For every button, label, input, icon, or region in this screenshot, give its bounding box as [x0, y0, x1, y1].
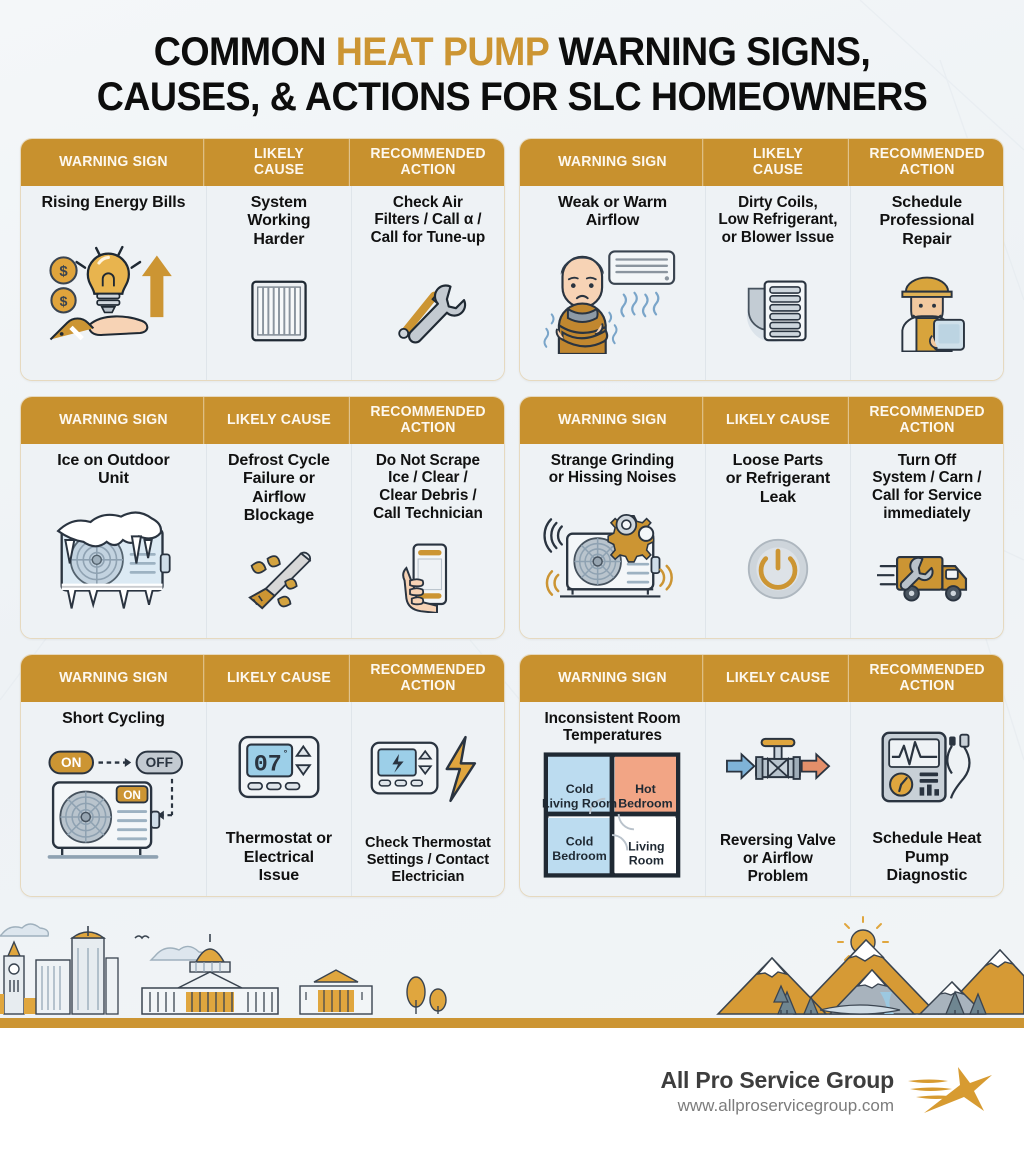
dirty-coils-icon: [712, 247, 844, 370]
card-body: Weak or Warm Airflow: [520, 186, 1003, 380]
header-recommended-action: RECOMMENDED ACTION: [853, 655, 1001, 702]
on-off-cycling-unit-icon: ON OFF: [27, 728, 200, 885]
shovel-leaves-icon: [213, 526, 345, 628]
badge-unit-on-label: ON: [124, 788, 142, 802]
service-truck-icon: [857, 523, 997, 628]
hand-bulb-money-icon: $ $: [27, 212, 200, 369]
header-recommended-action: RECOMMENDED ACTION: [354, 655, 502, 702]
warning-cell: Rising Energy Bills $ $: [21, 186, 207, 380]
brand-name: All Pro Service Group: [660, 1067, 894, 1094]
action-text: Schedule Professional Repair: [879, 194, 974, 250]
scenery-illustration: [0, 914, 1024, 1022]
card-header: WARNING SIGN LIKELY CAUSE RECOMMENDED AC…: [520, 139, 1003, 186]
svg-text:°: °: [284, 748, 288, 758]
header-likely-cause: LIKELY CAUSE: [708, 655, 849, 702]
warning-text: Strange Grinding or Hissing Noises: [549, 452, 677, 487]
cause-text: Loose Parts or Refrigerant Leak: [726, 452, 830, 508]
badge-on-label: ON: [62, 755, 82, 770]
salt-lake-city-skyline: [0, 924, 446, 1014]
card-ice-on-outdoor-unit[interactable]: WARNING SIGN LIKELY CAUSE RECOMMENDED AC…: [20, 396, 505, 639]
warning-text: Rising Energy Bills: [42, 194, 186, 213]
action-cell: Turn Off System / Carn / Call for Servic…: [851, 444, 1003, 638]
action-text: Do Not Scrape Ice / Clear / Clear Debris…: [373, 452, 483, 523]
cause-text: System Working Harder: [247, 194, 310, 250]
cause-cell: System Working Harder: [207, 186, 352, 380]
title-line-2: CAUSES, & ACTIONS FOR SLC HOMEOWNERS: [57, 75, 967, 120]
ground-bar: [0, 1018, 1024, 1028]
card-header: WARNING SIGN LIKELY CAUSE RECOMMENDED AC…: [520, 655, 1003, 702]
thermostat-reading: 07: [254, 753, 282, 779]
header-recommended-action: RECOMMENDED ACTION: [354, 139, 502, 186]
warning-cell: Strange Grinding or Hissing Noises: [520, 444, 706, 638]
header-likely-cause: LIKELY CAUSE: [209, 655, 350, 702]
reversing-valve-icon: [712, 710, 844, 827]
cause-text: Dirty Coils, Low Refrigerant, or Blower …: [718, 194, 837, 247]
brand-url[interactable]: www.allproservicegroup.com: [660, 1096, 894, 1116]
noisy-unit-gears-icon: [526, 487, 699, 628]
header-warning-sign: WARNING SIGN: [523, 397, 703, 444]
warning-cell: Weak or Warm Airflow: [520, 186, 706, 380]
warning-text: Ice on Outdoor Unit: [57, 452, 169, 489]
thermostat-icon: 07 °: [213, 710, 345, 824]
warning-text: Short Cycling: [62, 710, 165, 729]
header-warning-sign: WARNING SIGN: [523, 655, 703, 702]
warning-cell: Short Cycling ON OFF: [21, 702, 207, 896]
action-cell: Check Air Filters / Call α / Call for Tu…: [352, 186, 504, 380]
action-text: Turn Off System / Carn / Call for Servic…: [872, 452, 982, 523]
room-label-living-room: LivingRoom: [629, 840, 666, 868]
header-likely-cause: LIKELY CAUSE: [708, 139, 849, 186]
warning-text: Inconsistent Room Temperatures: [544, 710, 680, 745]
header-recommended-action: RECOMMENDED ACTION: [853, 139, 1001, 186]
cause-cell: Loose Parts or Refrigerant Leak: [706, 444, 851, 638]
cause-cell: 07 ° Thermostat or Electrical Issue: [207, 702, 352, 896]
card-body: Strange Grinding or Hissing Noises: [520, 444, 1003, 638]
action-cell: Do Not Scrape Ice / Clear / Clear Debris…: [352, 444, 504, 638]
cold-person-ac-icon: [526, 231, 699, 370]
card-body: Ice on Outdoor Unit: [21, 444, 504, 638]
header-likely-cause: LIKELY CAUSE: [209, 139, 350, 186]
card-body: Short Cycling ON OFF: [21, 702, 504, 896]
card-strange-noises[interactable]: WARNING SIGN LIKELY CAUSE RECOMMENDED AC…: [519, 396, 1004, 639]
action-cell: Schedule Professional Repair: [851, 186, 1003, 380]
header-warning-sign: WARNING SIGN: [24, 139, 204, 186]
cause-cell: Reversing Valve or Airflow Problem: [706, 702, 851, 896]
hand-phone-icon: [358, 523, 498, 628]
card-inconsistent-room-temperatures[interactable]: WARNING SIGN LIKELY CAUSE RECOMMENDED AC…: [519, 654, 1004, 897]
header-recommended-action: RECOMMENDED ACTION: [853, 397, 1001, 444]
thermostat-bolt-icon: [358, 710, 498, 829]
warning-cell: Inconsistent Room Temperatures: [520, 702, 706, 896]
power-button-icon: [712, 507, 844, 627]
diagnostic-meter-icon: [857, 710, 997, 824]
shooting-star-logo: [908, 1065, 994, 1117]
card-weak-or-warm-airflow[interactable]: WARNING SIGN LIKELY CAUSE RECOMMENDED AC…: [519, 138, 1004, 381]
badge-off-label: OFF: [146, 755, 173, 770]
frozen-outdoor-unit-icon: [27, 489, 200, 628]
action-text: Check Air Filters / Call α / Call for Tu…: [371, 194, 486, 247]
cause-cell: Dirty Coils, Low Refrigerant, or Blower …: [706, 186, 851, 380]
cause-cell: Defrost Cycle Failure or Airflow Blockag…: [207, 444, 352, 638]
action-text: Check Thermostat Settings / Contact Elec…: [365, 835, 491, 886]
card-header: WARNING SIGN LIKELY CAUSE RECOMMENDED AC…: [21, 655, 504, 702]
card-header: WARNING SIGN LIKELY CAUSE RECOMMENDED AC…: [21, 139, 504, 186]
title-accent: HEAT PUMP: [336, 30, 549, 74]
action-cell: Schedule Heat Pump Diagnostic: [851, 702, 1003, 896]
page-title: COMMON HEAT PUMP WARNING SIGNS, CAUSES, …: [0, 0, 1024, 130]
title-part-pre: COMMON: [154, 30, 336, 74]
floor-plan-icon: ColdLiving Room HotBedroom ColdBedroom L…: [526, 745, 699, 886]
title-part-post: WARNING SIGNS,: [549, 30, 871, 74]
svg-text:$: $: [60, 293, 68, 309]
title-line-1: COMMON HEAT PUMP WARNING SIGNS,: [57, 30, 967, 75]
card-short-cycling[interactable]: WARNING SIGN LIKELY CAUSE RECOMMENDED AC…: [20, 654, 505, 897]
cause-text: Thermostat or Electrical Issue: [226, 830, 332, 886]
header-warning-sign: WARNING SIGN: [523, 139, 703, 186]
cause-text: Reversing Valve or Airflow Problem: [720, 832, 836, 885]
card-header: WARNING SIGN LIKELY CAUSE RECOMMENDED AC…: [520, 397, 1003, 444]
card-header: WARNING SIGN LIKELY CAUSE RECOMMENDED AC…: [21, 397, 504, 444]
brand-block: All Pro Service Group www.allproserviceg…: [660, 1067, 894, 1116]
header-warning-sign: WARNING SIGN: [24, 655, 204, 702]
technician-tablet-icon: [857, 249, 997, 369]
card-body: Inconsistent Room Temperatures: [520, 702, 1003, 896]
footer: All Pro Service Group www.allproserviceg…: [0, 1028, 1024, 1154]
header-likely-cause: LIKELY CAUSE: [708, 397, 849, 444]
action-cell: Check Thermostat Settings / Contact Elec…: [352, 702, 504, 896]
cause-text: Defrost Cycle Failure or Airflow Blockag…: [228, 452, 330, 526]
header-recommended-action: RECOMMENDED ACTION: [354, 397, 502, 444]
header-warning-sign: WARNING SIGN: [24, 397, 204, 444]
svg-text:$: $: [60, 263, 69, 280]
warning-text: Weak or Warm Airflow: [558, 194, 667, 231]
wasatch-mountains-with-sun: [718, 917, 1024, 1014]
wrench-screwdriver-icon: [358, 247, 498, 370]
action-text: Schedule Heat Pump Diagnostic: [872, 830, 981, 886]
air-filter-icon: [213, 249, 345, 369]
warning-cell: Ice on Outdoor Unit: [21, 444, 207, 638]
warning-signs-grid: WARNING SIGN LIKELY CAUSE RECOMMENDED AC…: [0, 130, 1024, 897]
card-body: Rising Energy Bills $ $: [21, 186, 504, 380]
header-likely-cause: LIKELY CAUSE: [209, 397, 350, 444]
card-rising-energy-bills[interactable]: WARNING SIGN LIKELY CAUSE RECOMMENDED AC…: [20, 138, 505, 381]
